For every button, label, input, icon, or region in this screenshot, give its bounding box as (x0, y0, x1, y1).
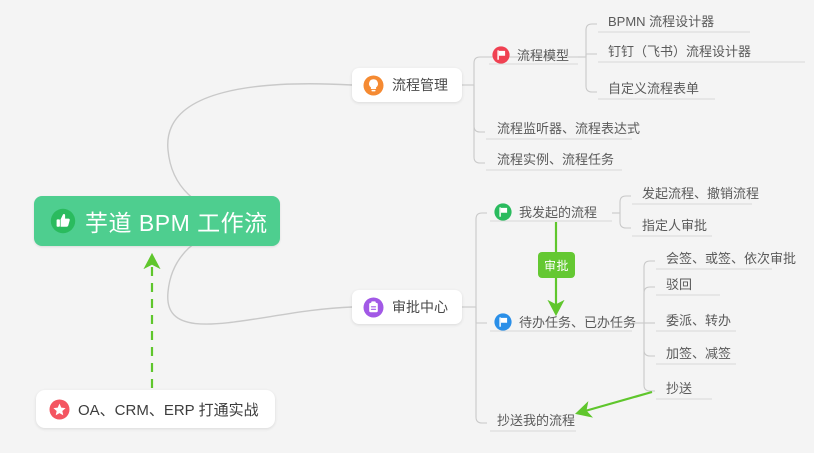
annotation-tag-approve-label: 审批 (544, 257, 569, 274)
thumbs-up-icon (50, 208, 76, 234)
wire-todo-to-reject (644, 287, 655, 323)
leaf-dingtalk-feishu-designer[interactable]: 钉钉（飞书）流程设计器 (599, 43, 760, 65)
wire-ac-to-initiated (476, 213, 487, 307)
leaf-label-my-initiated-processes: 我发起的流程 (519, 204, 597, 221)
leaf-start-cancel-process[interactable]: 发起流程、撤销流程 (633, 185, 768, 207)
wire-initiated-to-assignee (620, 213, 631, 228)
leaf-delegate-transfer[interactable]: 委派、转办 (657, 312, 740, 334)
mindmap-canvas: 芋道 BPM 工作流 流程管理 流程模型 流程监听器、流程表达式 流程实例、流程… (0, 0, 814, 453)
leaf-designated-approver[interactable]: 指定人审批 (633, 217, 716, 239)
leaf-custom-process-form[interactable]: 自定义流程表单 (599, 80, 708, 102)
leaf-cc-to-me-processes[interactable]: 抄送我的流程 (488, 412, 584, 434)
leaf-process-listener[interactable]: 流程监听器、流程表达式 (488, 120, 649, 142)
node-integration-practice-label: OA、CRM、ERP 打通实战 (78, 399, 259, 420)
wire-model-to-customform (586, 57, 597, 92)
branch-label-approval-center: 审批中心 (392, 297, 448, 317)
wire-model-to-dingtalk (586, 54, 597, 57)
leaf-process-model[interactable]: 流程模型 (490, 46, 578, 69)
leaf-my-initiated-processes[interactable]: 我发起的流程 (492, 203, 606, 226)
leaf-add-remove-sign[interactable]: 加签、减签 (657, 345, 740, 367)
leaf-process-instance[interactable]: 流程实例、流程任务 (488, 151, 623, 173)
wire-ac-to-ccme (476, 307, 487, 423)
flag-icon (494, 313, 512, 331)
wire-ac-to-todo (476, 307, 487, 323)
wire-todo-to-cc (644, 323, 655, 391)
flag-icon (494, 203, 512, 221)
flag-icon (492, 46, 510, 64)
branch-node-approval-center[interactable]: 审批中心 (352, 290, 462, 324)
lightbulb-icon (363, 75, 384, 96)
leaf-reject[interactable]: 驳回 (657, 276, 701, 298)
wire-model-to-bpmn (586, 24, 597, 57)
leaf-label-todo-done-tasks: 待办任务、已办任务 (519, 314, 636, 331)
root-label: 芋道 BPM 工作流 (85, 204, 268, 238)
clipboard-icon (363, 297, 384, 318)
leaf-countersign-orsign-sequential[interactable]: 会签、或签、依次审批 (657, 250, 805, 272)
root-node[interactable]: 芋道 BPM 工作流 (34, 196, 280, 246)
branch-node-process-management[interactable]: 流程管理 (352, 68, 462, 102)
wire-todo-to-countersign (644, 261, 655, 323)
node-integration-practice[interactable]: OA、CRM、ERP 打通实战 (36, 390, 275, 428)
leaf-bpmn-designer[interactable]: BPMN 流程设计器 (599, 13, 723, 35)
wire-pm-to-listener (474, 85, 485, 132)
leaf-carbon-copy[interactable]: 抄送 (657, 380, 701, 402)
wire-todo-to-addsign (644, 323, 655, 356)
arrow-cc-to-ccme (578, 392, 652, 413)
star-icon (49, 399, 70, 420)
leaf-label-process-model: 流程模型 (517, 47, 569, 64)
branch-label-process-management: 流程管理 (392, 75, 448, 95)
leaf-todo-done-tasks[interactable]: 待办任务、已办任务 (492, 313, 645, 336)
wire-pm-to-instance (474, 85, 485, 163)
wire-initiated-to-start (620, 196, 631, 213)
annotation-tag-approve: 审批 (538, 252, 575, 278)
